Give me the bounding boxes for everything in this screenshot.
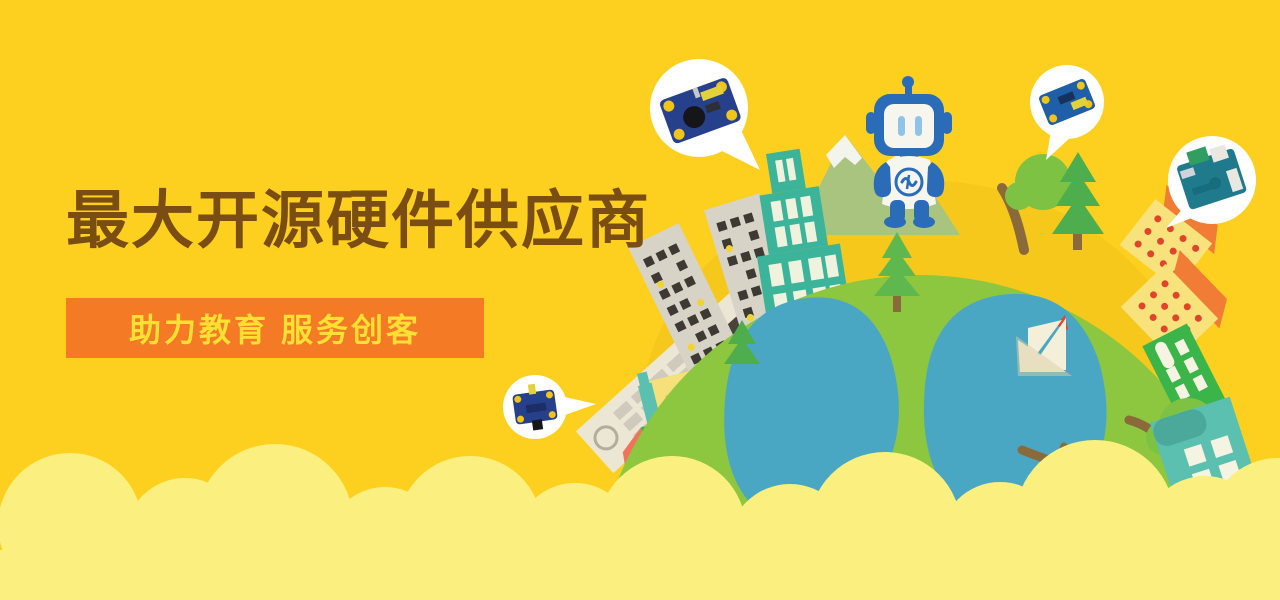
cloud-band <box>0 410 1280 600</box>
text-block: 最大开源硬件供应商 助力教育 服务创客 <box>66 185 686 358</box>
tagline-text: 助力教育 服务创客 <box>129 305 421 351</box>
cloud-shapes <box>0 440 1280 600</box>
promo-banner: 最大开源硬件供应商 助力教育 服务创客 <box>0 0 1280 600</box>
page-title: 最大开源硬件供应商 <box>66 185 686 257</box>
tagline-badge: 助力教育 服务创客 <box>66 298 484 358</box>
